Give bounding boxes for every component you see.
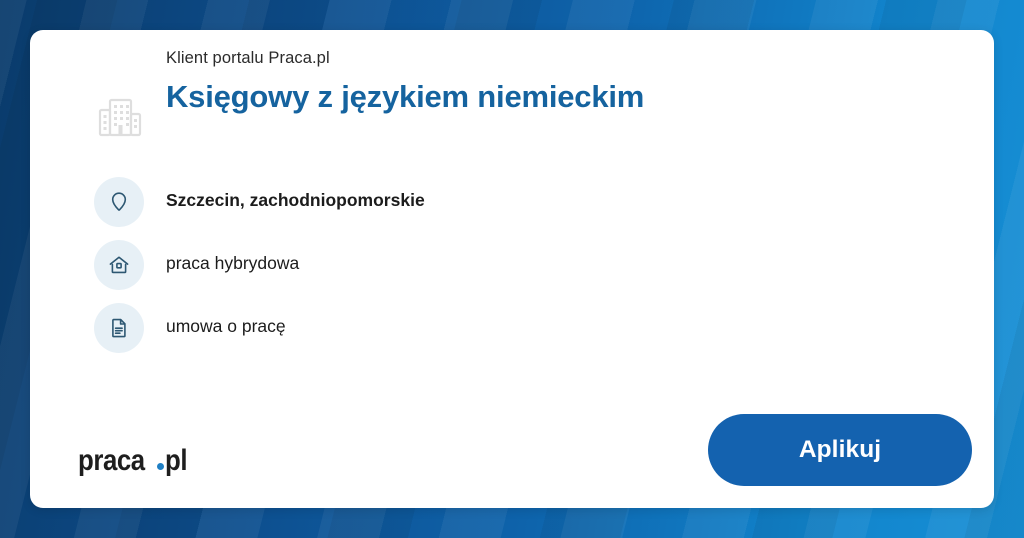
location-pin-icon	[94, 177, 144, 227]
dot-icon	[157, 463, 164, 470]
page-title: Księgowy z językiem niemieckim	[166, 80, 644, 115]
building-icon	[94, 92, 146, 144]
logo-text-suffix: pl	[165, 446, 187, 476]
header-text-block: Klient portalu Praca.pl Księgowy z język…	[166, 50, 644, 135]
home-icon	[94, 240, 144, 290]
job-details-list: Szczecin, zachodniopomorskie praca hybry…	[30, 170, 994, 359]
company-kicker: Klient portalu Praca.pl	[166, 50, 644, 67]
detail-label-location: Szczecin, zachodniopomorskie	[166, 190, 425, 211]
job-offer-card: Klient portalu Praca.pl Księgowy z język…	[30, 30, 994, 508]
detail-row-location: Szczecin, zachodniopomorskie	[30, 170, 994, 233]
detail-label-contract: umowa o pracę	[166, 316, 286, 337]
document-icon	[94, 303, 144, 353]
detail-row-work-mode: praca hybrydowa	[30, 233, 994, 296]
detail-row-contract: umowa o pracę	[30, 296, 994, 359]
detail-label-work-mode: praca hybrydowa	[166, 253, 299, 274]
praca-pl-logo[interactable]: pracapl	[78, 446, 190, 476]
apply-button[interactable]: Aplikuj	[708, 414, 972, 486]
logo-text-main: praca	[78, 446, 145, 476]
card-header: Klient portalu Praca.pl Księgowy z język…	[30, 30, 994, 150]
